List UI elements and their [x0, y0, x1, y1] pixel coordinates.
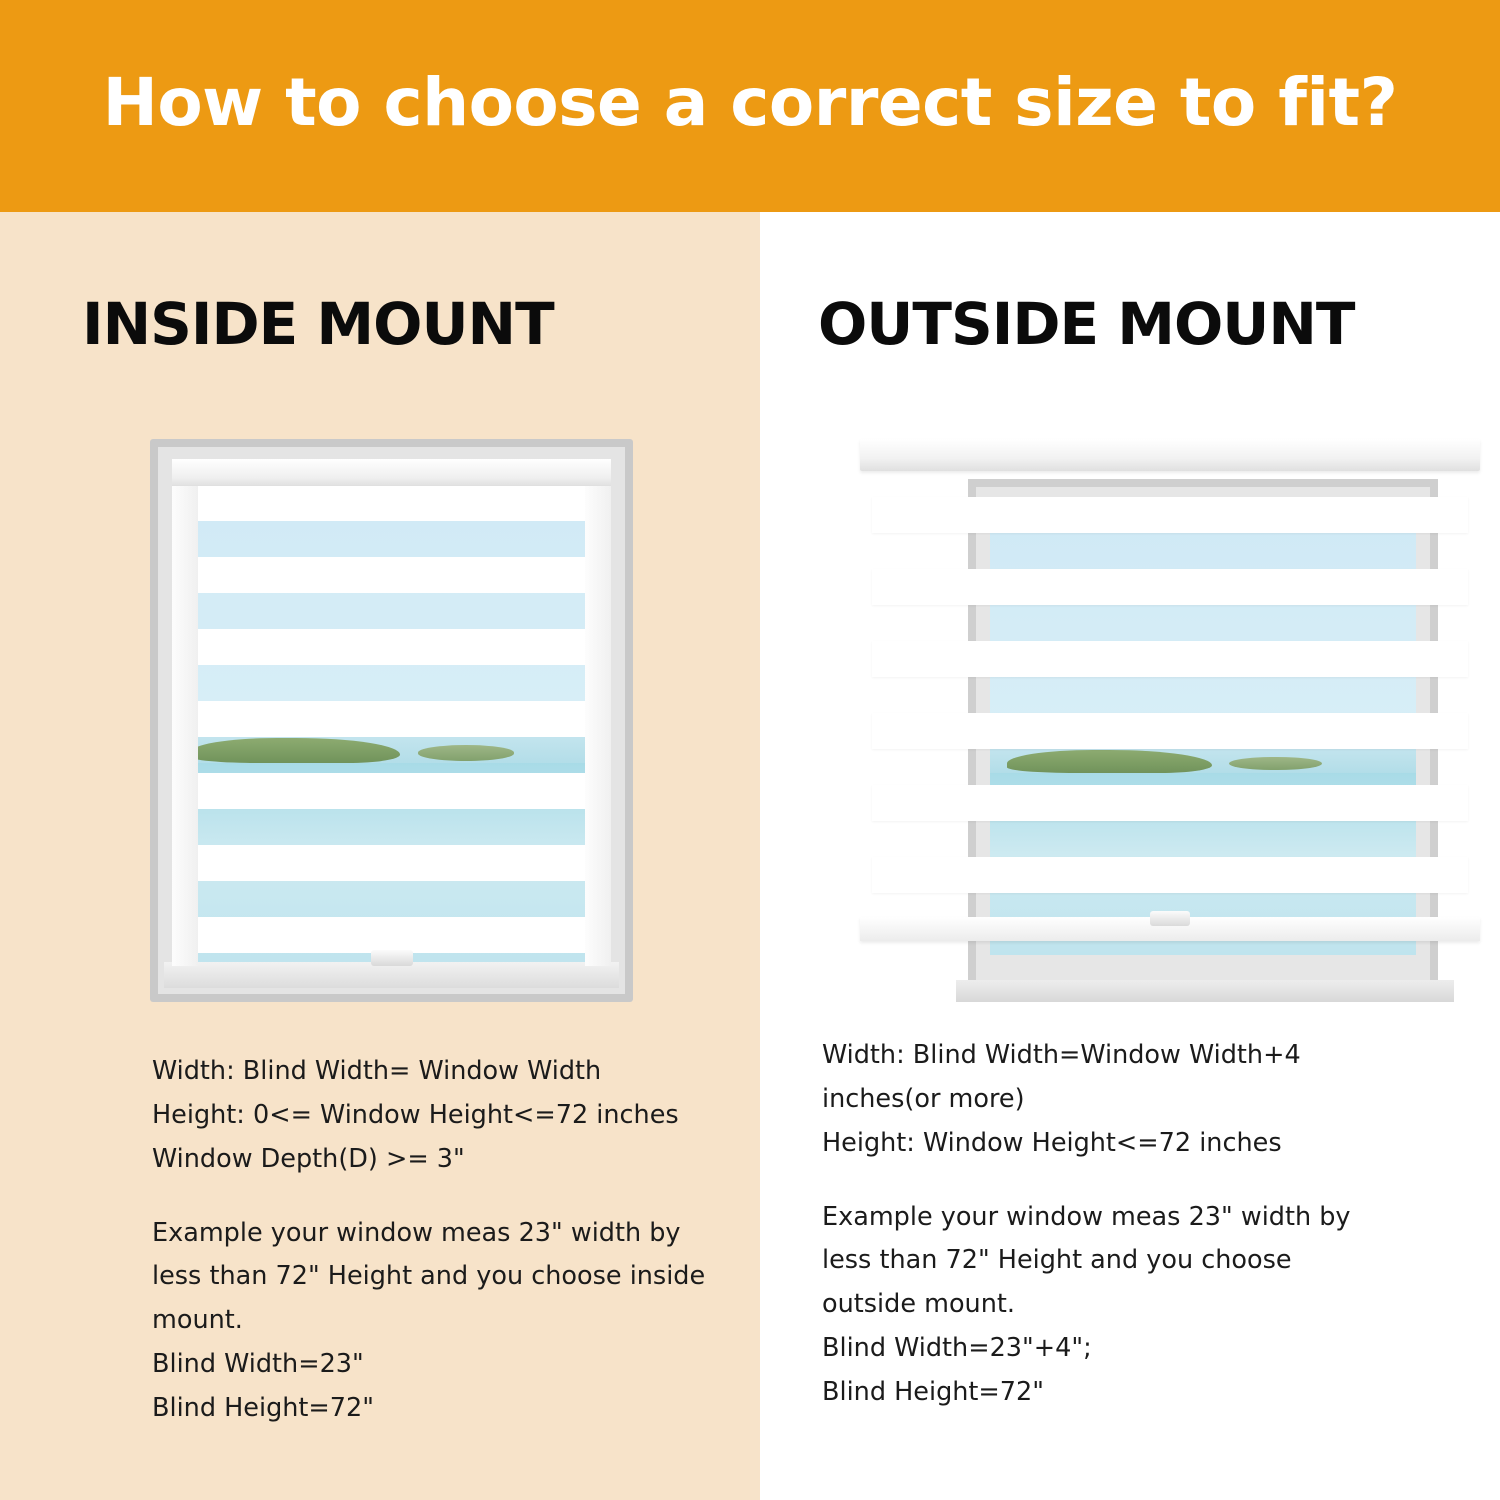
text-spacer — [152, 1182, 712, 1212]
outside-spec-line: Height: Window Height<=72 inches — [822, 1122, 1402, 1166]
outside-mount-text: Width: Blind Width=Window Width+4 inches… — [822, 1034, 1402, 1415]
blind-slat — [172, 629, 611, 665]
outside-example-line: less than 72" Height and you choose — [822, 1239, 1402, 1283]
blind-side-rail-left — [172, 459, 198, 966]
blind-headrail — [172, 459, 611, 486]
infographic-page: How to choose a correct size to fit? INS… — [0, 0, 1500, 1500]
inside-example-line: mount. — [152, 1299, 712, 1343]
outside-spec-line: inches(or more) — [822, 1078, 1402, 1122]
blind-slat — [172, 485, 611, 521]
blind-headrail — [860, 439, 1480, 471]
blind-slat — [872, 713, 1468, 749]
blind-slat — [872, 641, 1468, 677]
outside-mount-title: OUTSIDE MOUNT — [818, 290, 1355, 358]
inside-example-line: Example your window meas 23" width by — [152, 1212, 712, 1256]
text-spacer — [822, 1166, 1402, 1196]
blind-side-rail-right — [585, 459, 611, 966]
inside-mount-title: INSIDE MOUNT — [82, 290, 554, 358]
inside-mount-panel: INSIDE MOUNT — [0, 212, 760, 1500]
outside-mount-window-illustration — [860, 439, 1480, 1002]
blind-slat — [172, 845, 611, 881]
window-glass-area — [172, 459, 611, 966]
inside-example-line: Blind Height=72" — [152, 1387, 712, 1431]
header-banner: How to choose a correct size to fit? — [0, 0, 1500, 212]
blind-slat — [172, 701, 611, 737]
inside-example-line: Blind Width=23" — [152, 1343, 712, 1387]
blind-slat — [172, 773, 611, 809]
blind-slat — [872, 497, 1468, 533]
outside-mount-panel: OUTSIDE MOUNT — [760, 212, 1500, 1500]
outside-example-line: Example your window meas 23" width by — [822, 1196, 1402, 1240]
outside-example-line: Blind Height=72" — [822, 1371, 1402, 1415]
window-sill — [956, 980, 1454, 1002]
page-title: How to choose a correct size to fit? — [103, 70, 1398, 136]
window-latch — [1150, 911, 1190, 926]
inside-spec-line: Height: 0<= Window Height<=72 inches — [152, 1094, 712, 1138]
outside-example-line: Blind Width=23"+4"; — [822, 1327, 1402, 1371]
blind-slat — [172, 917, 611, 953]
blind-slat — [172, 557, 611, 593]
zebra-blind-inside — [172, 459, 611, 966]
inside-spec-line: Window Depth(D) >= 3" — [152, 1138, 712, 1182]
blind-slat — [872, 857, 1468, 893]
outside-example-line: outside mount. — [822, 1283, 1402, 1327]
outside-spec-line: Width: Blind Width=Window Width+4 — [822, 1034, 1402, 1078]
blind-slat — [872, 785, 1468, 821]
blind-slat — [872, 569, 1468, 605]
window-latch — [371, 950, 413, 966]
inside-example-line: less than 72" Height and you choose insi… — [152, 1255, 712, 1299]
zebra-blind-outside — [860, 439, 1480, 944]
inside-spec-line: Width: Blind Width= Window Width — [152, 1050, 712, 1094]
inside-mount-window-illustration — [150, 439, 633, 1002]
inside-mount-text: Width: Blind Width= Window Width Height:… — [152, 1050, 712, 1431]
